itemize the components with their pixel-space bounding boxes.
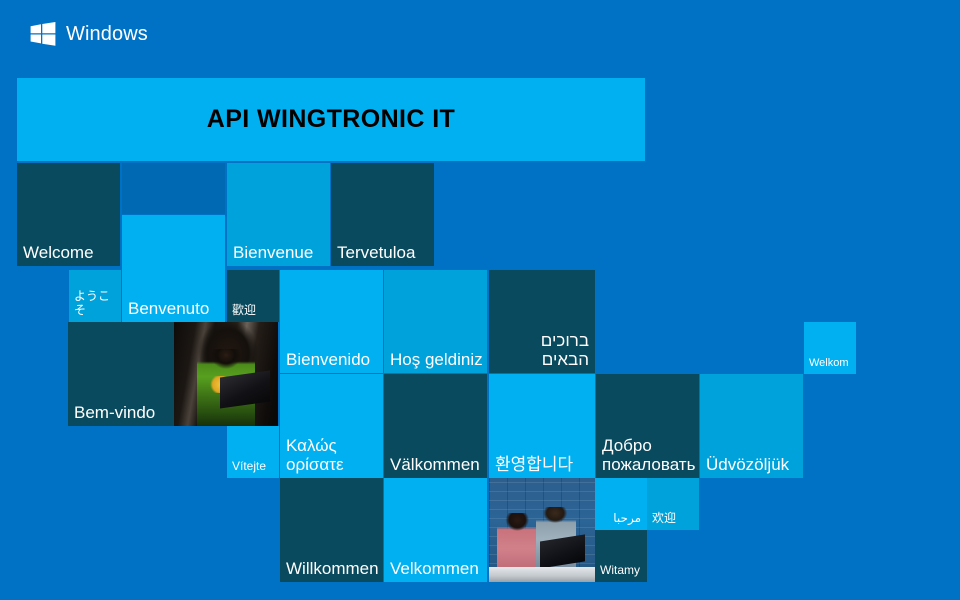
photo-laptop <box>220 370 270 408</box>
tile-label-velkommen: Velkommen <box>390 559 483 578</box>
tile-label-bienvenido: Bienvenido <box>286 350 379 369</box>
tile-benvenuto[interactable]: Benvenuto <box>122 215 225 322</box>
tile-marhaba[interactable]: مرحبا <box>595 478 647 530</box>
tile-hos-geldiniz[interactable]: Hoş geldiniz <box>384 270 487 373</box>
tile-huanying-trad[interactable]: 歡迎 <box>227 270 279 322</box>
title-banner: API WINGTRONIC IT <box>17 78 645 161</box>
tile-valkommen[interactable]: Välkommen <box>384 374 487 478</box>
tile-udvozoljuk[interactable]: Üdvözöljük <box>700 374 803 478</box>
tile-label-hos-geldiniz: Hoş geldiniz <box>390 350 483 369</box>
page-title: API WINGTRONIC IT <box>207 105 455 134</box>
photo-woman-with-laptop <box>174 322 278 426</box>
tile-label-welcome: Welcome <box>23 243 116 262</box>
brand-name: Windows <box>66 22 148 46</box>
windows-flag-icon <box>30 22 56 46</box>
tile-label-vitejte: Vítejte <box>232 460 275 473</box>
tile-label-youkoso: ようこそ <box>74 290 117 317</box>
tile-blank-a[interactable] <box>122 163 225 214</box>
tile-label-dobro-pozhalovat: Добро пожаловать <box>602 436 695 474</box>
tile-label-huanying-simp: 欢迎 <box>652 512 695 525</box>
tile-tervetuloa[interactable]: Tervetuloa <box>331 163 434 266</box>
mosaic-stage: Windows API WINGTRONIC IT WelcomeBienven… <box>0 0 960 600</box>
tile-youkoso[interactable]: ようこそ <box>69 270 121 322</box>
tile-bienvenido[interactable]: Bienvenido <box>280 270 383 373</box>
tile-label-valkommen: Välkommen <box>390 455 483 474</box>
tile-label-witamy: Witamy <box>600 564 643 577</box>
tile-label-willkommen: Willkommen <box>286 559 379 578</box>
tile-label-kalos-orisate: Καλώς ορίσατε <box>286 436 379 474</box>
tile-label-huanying-trad: 歡迎 <box>232 304 275 317</box>
tile-label-welkom: Welkom <box>809 357 852 369</box>
photo-desk <box>489 567 595 582</box>
tile-huanying-simp[interactable]: 欢迎 <box>647 478 699 530</box>
tile-hebrew-welcome[interactable]: ברוכים הבאים <box>489 270 595 373</box>
tile-label-bienvenue: Bienvenue <box>233 243 326 262</box>
tile-label-tervetuloa: Tervetuloa <box>337 243 430 262</box>
tile-label-korean-welcome: 환영합니다 <box>495 455 591 474</box>
tile-willkommen[interactable]: Willkommen <box>280 478 383 582</box>
tile-bem-vindo[interactable]: Bem-vindo <box>68 322 174 426</box>
tile-korean-welcome[interactable]: 환영합니다 <box>489 374 595 478</box>
tile-welcome[interactable]: Welcome <box>17 163 120 266</box>
tile-bienvenue[interactable]: Bienvenue <box>227 163 330 266</box>
tile-velkommen[interactable]: Velkommen <box>384 478 487 582</box>
tile-vitejte[interactable]: Vítejte <box>227 426 279 478</box>
tile-label-bem-vindo: Bem-vindo <box>74 403 170 422</box>
tile-label-udvozoljuk: Üdvözöljük <box>706 455 799 474</box>
tile-dobro-pozhalovat[interactable]: Добро пожаловать <box>596 374 699 478</box>
tile-welkom[interactable]: Welkom <box>804 322 856 374</box>
tile-kalos-orisate[interactable]: Καλώς ορίσατε <box>280 374 383 478</box>
tile-label-marhaba: مرحبا <box>599 512 641 525</box>
tile-label-hebrew-welcome: ברוכים הבאים <box>493 331 589 369</box>
tile-witamy[interactable]: Witamy <box>595 530 647 582</box>
tile-label-benvenuto: Benvenuto <box>128 299 221 318</box>
photo-students-with-laptop <box>489 478 595 582</box>
windows-brand: Windows <box>30 20 148 48</box>
